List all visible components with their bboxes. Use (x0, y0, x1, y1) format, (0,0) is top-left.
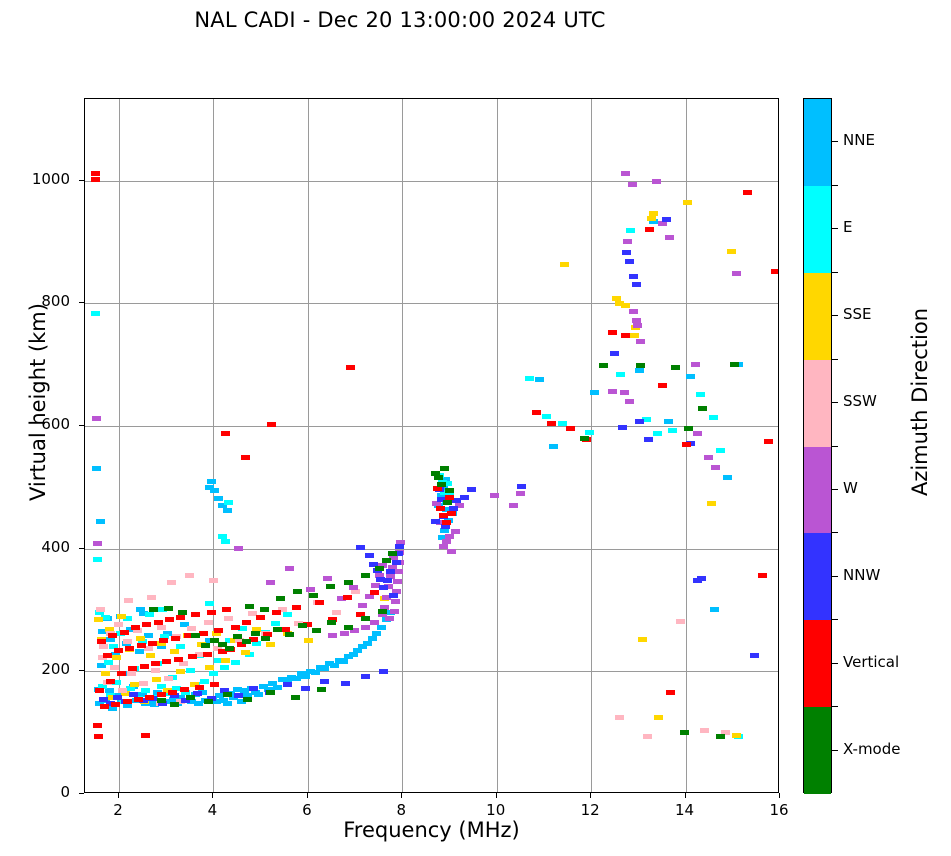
echo-point (176, 615, 185, 620)
echo-point (327, 620, 336, 625)
echo-point (135, 649, 144, 654)
colorbar-label-ssw: SSW (843, 392, 877, 410)
echo-point (658, 383, 667, 388)
echo-point (141, 688, 150, 693)
echo-point (221, 658, 230, 663)
echo-point (223, 692, 232, 697)
echo-point (372, 631, 381, 636)
echo-point (120, 630, 129, 635)
echo-point (732, 733, 741, 738)
echo-point (165, 617, 174, 622)
echo-point (332, 610, 341, 615)
echo-point (231, 660, 240, 665)
echo-point (210, 638, 219, 643)
echo-point (93, 557, 102, 562)
echo-point (108, 633, 117, 638)
echo-point (188, 654, 197, 659)
echo-point (144, 633, 153, 638)
echo-point (180, 687, 189, 692)
echo-point (758, 573, 767, 578)
echo-point (445, 488, 454, 493)
echo-point (157, 625, 166, 630)
echo-point (361, 674, 370, 679)
x-tick-label: 12 (570, 801, 610, 819)
echo-point (704, 455, 713, 460)
echo-point (629, 274, 638, 279)
colorbar-segment-w (804, 447, 831, 534)
echo-point (517, 484, 526, 489)
echo-point (388, 551, 397, 556)
echo-point (509, 503, 518, 508)
y-tickmark (79, 670, 84, 671)
echo-point (431, 519, 440, 524)
echo-point (145, 695, 154, 700)
echo-point (647, 216, 656, 221)
echo-point (168, 690, 177, 695)
echo-point (93, 541, 102, 546)
echo-point (710, 607, 719, 612)
echo-point (276, 596, 285, 601)
echo-point (652, 179, 661, 184)
echo-point (379, 669, 388, 674)
echo-point (636, 339, 645, 344)
echo-point (615, 715, 624, 720)
echo-point (431, 471, 440, 476)
y-tickmark (79, 302, 84, 303)
echo-point (684, 426, 693, 431)
echo-point (128, 666, 137, 671)
echo-point (764, 439, 773, 444)
echo-point (191, 612, 200, 617)
echo-point (191, 633, 200, 638)
echo-point (460, 495, 469, 500)
echo-point (697, 576, 706, 581)
echo-point (146, 653, 155, 658)
colorbar-tickmark (832, 750, 838, 751)
echo-point (131, 625, 140, 630)
echo-point (447, 511, 456, 516)
echo-point (178, 610, 187, 615)
echo-point (309, 593, 318, 598)
echo-point (242, 620, 251, 625)
echo-point (590, 390, 599, 395)
y-tick-label: 400 (10, 538, 70, 556)
echo-point (96, 607, 105, 612)
echo-point (358, 603, 367, 608)
x-tick-label: 16 (759, 801, 799, 819)
y-tick-label: 0 (10, 783, 70, 801)
echo-point (103, 653, 112, 658)
echo-point (700, 728, 709, 733)
echo-point (653, 431, 662, 436)
echo-point (750, 653, 759, 658)
echo-point (339, 659, 348, 664)
echo-point (625, 399, 634, 404)
echo-point (340, 631, 349, 636)
echo-point (207, 479, 216, 484)
echo-point (251, 631, 260, 636)
echo-point (343, 595, 352, 600)
echo-point (312, 628, 321, 633)
y-tick-label: 1000 (10, 170, 70, 188)
echo-point (95, 688, 104, 693)
echo-point (320, 666, 329, 671)
echo-point (625, 259, 634, 264)
echo-point (341, 681, 350, 686)
colorbar-label-nnw: NNW (843, 566, 880, 584)
echo-point (377, 625, 386, 630)
echo-point (566, 426, 575, 431)
echo-point (395, 544, 404, 549)
echo-point (254, 692, 263, 697)
echo-point (214, 628, 223, 633)
echo-point (291, 695, 300, 700)
echo-point (375, 566, 384, 571)
echo-point (532, 410, 541, 415)
echo-point (668, 428, 677, 433)
echo-point (630, 333, 639, 338)
echo-point (220, 665, 229, 670)
echo-point (623, 239, 632, 244)
echo-point (549, 444, 558, 449)
echo-point (560, 262, 569, 267)
echo-point (440, 466, 449, 471)
x-tick-label: 6 (287, 801, 327, 819)
echo-point (243, 697, 252, 702)
echo-point (125, 646, 134, 651)
echo-point (616, 372, 625, 377)
echo-point (490, 493, 499, 498)
echo-point (711, 465, 720, 470)
echo-point (682, 442, 691, 447)
y-tickmark (79, 425, 84, 426)
echo-point (210, 488, 219, 493)
echo-point (260, 607, 269, 612)
echo-point (118, 688, 127, 693)
y-tickmark (79, 793, 84, 794)
y-axis-label: Virtual height (km) (26, 272, 50, 532)
echo-point (209, 578, 218, 583)
echo-point (622, 250, 631, 255)
colorbar-tickmark (832, 663, 838, 664)
echo-point (686, 374, 695, 379)
y-tick-label: 200 (10, 660, 70, 678)
echo-point (365, 553, 374, 558)
colorbar-segment-vertical (804, 620, 831, 707)
echo-point (285, 566, 294, 571)
echo-point (187, 626, 196, 631)
echo-point (666, 690, 675, 695)
echo-point (361, 616, 370, 621)
echo-point (123, 639, 132, 644)
echo-point (137, 643, 146, 648)
echo-point (186, 668, 195, 673)
echo-point (222, 607, 231, 612)
echo-point (266, 642, 275, 647)
scatter-data-layer (85, 99, 778, 792)
echo-point (201, 643, 210, 648)
colorbar-boundary-tick (832, 272, 838, 273)
echo-point (542, 414, 551, 419)
echo-point (635, 419, 644, 424)
echo-point (94, 617, 103, 622)
echo-point (94, 734, 103, 739)
echo-point (271, 621, 280, 626)
echo-point (608, 389, 617, 394)
echo-point (241, 650, 250, 655)
echo-point (326, 584, 335, 589)
echo-point (628, 182, 637, 187)
echo-point (683, 200, 692, 205)
echo-point (392, 560, 401, 565)
echo-point (680, 730, 689, 735)
echo-point (716, 448, 725, 453)
echo-point (185, 573, 194, 578)
echo-point (224, 500, 233, 505)
echo-point (151, 661, 160, 666)
echo-point (344, 625, 353, 630)
echo-point (204, 620, 213, 625)
echo-point (621, 171, 630, 176)
colorbar-boundary-tick (832, 532, 838, 533)
echo-point (205, 601, 214, 606)
x-tickmark (401, 793, 402, 798)
echo-point (127, 671, 136, 676)
x-axis-label: Frequency (MHz) (84, 818, 779, 842)
echo-point (723, 475, 732, 480)
echo-point (164, 676, 173, 681)
colorbar-segment-e (804, 186, 831, 273)
echo-point (698, 406, 707, 411)
echo-point (292, 676, 301, 681)
echo-point (691, 362, 700, 367)
echo-point (179, 661, 188, 666)
echo-point (162, 659, 171, 664)
colorbar-tickmark (832, 489, 838, 490)
echo-point (382, 558, 391, 563)
echo-point (91, 177, 100, 182)
echo-point (383, 578, 392, 583)
echo-point (315, 600, 324, 605)
echo-point (149, 607, 158, 612)
echo-point (693, 431, 702, 436)
echo-point (140, 664, 149, 669)
echo-point (298, 623, 307, 628)
echo-point (304, 638, 313, 643)
x-tick-label: 2 (98, 801, 138, 819)
echo-point (580, 436, 589, 441)
x-tickmark (307, 793, 308, 798)
echo-point (92, 416, 101, 421)
echo-point (223, 508, 232, 513)
echo-point (93, 723, 102, 728)
echo-point (467, 487, 476, 492)
echo-point (174, 657, 183, 662)
colorbar-label-sse: SSE (843, 305, 872, 323)
echo-point (283, 612, 292, 617)
echo-point (301, 674, 310, 679)
echo-point (696, 392, 705, 397)
echo-point (101, 671, 110, 676)
echo-point (273, 627, 282, 632)
echo-point (221, 431, 230, 436)
echo-point (147, 595, 156, 600)
echo-point (618, 425, 627, 430)
echo-point (207, 610, 216, 615)
colorbar-label: Azimuth Direction (908, 272, 932, 532)
echo-point (727, 249, 736, 254)
echo-point (442, 520, 451, 525)
echo-point (214, 496, 223, 501)
echo-point (664, 419, 673, 424)
x-tick-label: 14 (665, 801, 705, 819)
echo-point (100, 704, 109, 709)
echo-point (389, 593, 398, 598)
echo-point (633, 323, 642, 328)
echo-point (225, 646, 234, 651)
echo-point (167, 580, 176, 585)
echo-point (195, 685, 204, 690)
echo-point (283, 682, 292, 687)
echo-point (171, 636, 180, 641)
echo-point (112, 655, 121, 660)
echo-point (445, 534, 454, 539)
echo-point (361, 625, 370, 630)
colorbar-boundary-tick (832, 359, 838, 360)
echo-point (91, 171, 100, 176)
echo-point (221, 539, 230, 544)
echo-point (204, 699, 213, 704)
echo-point (267, 422, 276, 427)
echo-point (261, 636, 270, 641)
echo-point (124, 598, 133, 603)
echo-point (186, 695, 195, 700)
echo-point (306, 587, 315, 592)
echo-point (210, 682, 219, 687)
colorbar-label-vertical: Vertical (843, 653, 899, 671)
x-tick-label: 10 (476, 801, 516, 819)
echo-point (643, 734, 652, 739)
echo-point (111, 702, 120, 707)
echo-point (730, 362, 739, 367)
echo-point (649, 211, 658, 216)
echo-point (266, 690, 275, 695)
echo-point (139, 681, 148, 686)
echo-point (91, 311, 100, 316)
echo-point (615, 301, 624, 306)
echo-point (599, 363, 608, 368)
echo-point (356, 545, 365, 550)
echo-point (368, 636, 377, 641)
echo-point (621, 333, 630, 338)
echo-point (266, 580, 275, 585)
echo-point (151, 668, 160, 673)
echo-point (638, 637, 647, 642)
colorbar-tickmark (832, 141, 838, 142)
echo-point (585, 430, 594, 435)
echo-point (451, 529, 460, 534)
echo-point (645, 227, 654, 232)
echo-point (170, 702, 179, 707)
echo-point (320, 679, 329, 684)
echo-point (142, 622, 151, 627)
echo-point (535, 377, 544, 382)
echo-point (743, 190, 752, 195)
echo-point (390, 609, 399, 614)
echo-point (671, 365, 680, 370)
echo-point (200, 679, 209, 684)
echo-point (145, 612, 154, 617)
echo-point (223, 701, 232, 706)
echo-point (732, 271, 741, 276)
echo-point (117, 671, 126, 676)
echo-point (386, 569, 395, 574)
echo-point (152, 677, 161, 682)
echo-point (436, 506, 445, 511)
x-tickmark (685, 793, 686, 798)
echo-point (234, 693, 243, 698)
echo-point (99, 644, 108, 649)
echo-point (379, 585, 388, 590)
colorbar-boundary-tick (832, 619, 838, 620)
colorbar-tickmark (832, 315, 838, 316)
colorbar-label-nne: NNE (843, 131, 875, 149)
echo-point (547, 421, 556, 426)
echo-point (92, 466, 101, 471)
echo-point (154, 620, 163, 625)
echo-point (629, 309, 638, 314)
echo-point (136, 636, 145, 641)
colorbar-boundary-tick (832, 185, 838, 186)
colorbar-label-x-mode: X-mode (843, 740, 900, 758)
echo-point (370, 620, 379, 625)
echo-point (370, 590, 379, 595)
echo-point (626, 228, 635, 233)
echo-point (676, 619, 685, 624)
echo-point (205, 665, 214, 670)
colorbar-segment-sse (804, 273, 831, 360)
echo-point (96, 519, 105, 524)
echo-point (378, 609, 387, 614)
echo-point (293, 589, 302, 594)
echo-point (516, 491, 525, 496)
x-tick-label: 8 (381, 801, 421, 819)
echo-point (346, 365, 355, 370)
x-tickmark (212, 793, 213, 798)
colorbar-segment-nne (804, 99, 831, 186)
echo-point (117, 614, 126, 619)
echo-point (272, 610, 281, 615)
echo-point (285, 632, 294, 637)
echo-point (716, 734, 725, 739)
plot-area (84, 98, 779, 793)
echo-point (209, 671, 218, 676)
echo-point (159, 638, 168, 643)
echo-point (311, 670, 320, 675)
colorbar-tickmark (832, 576, 838, 577)
x-tickmark (118, 793, 119, 798)
colorbar-label-w: W (843, 479, 858, 497)
x-tickmark (496, 793, 497, 798)
colorbar-boundary-tick (832, 706, 838, 707)
echo-point (234, 546, 243, 551)
echo-point (134, 697, 143, 702)
echo-point (344, 580, 353, 585)
echo-point (203, 652, 212, 657)
echo-point (330, 663, 339, 668)
echo-point (241, 455, 250, 460)
echo-point (771, 269, 778, 274)
